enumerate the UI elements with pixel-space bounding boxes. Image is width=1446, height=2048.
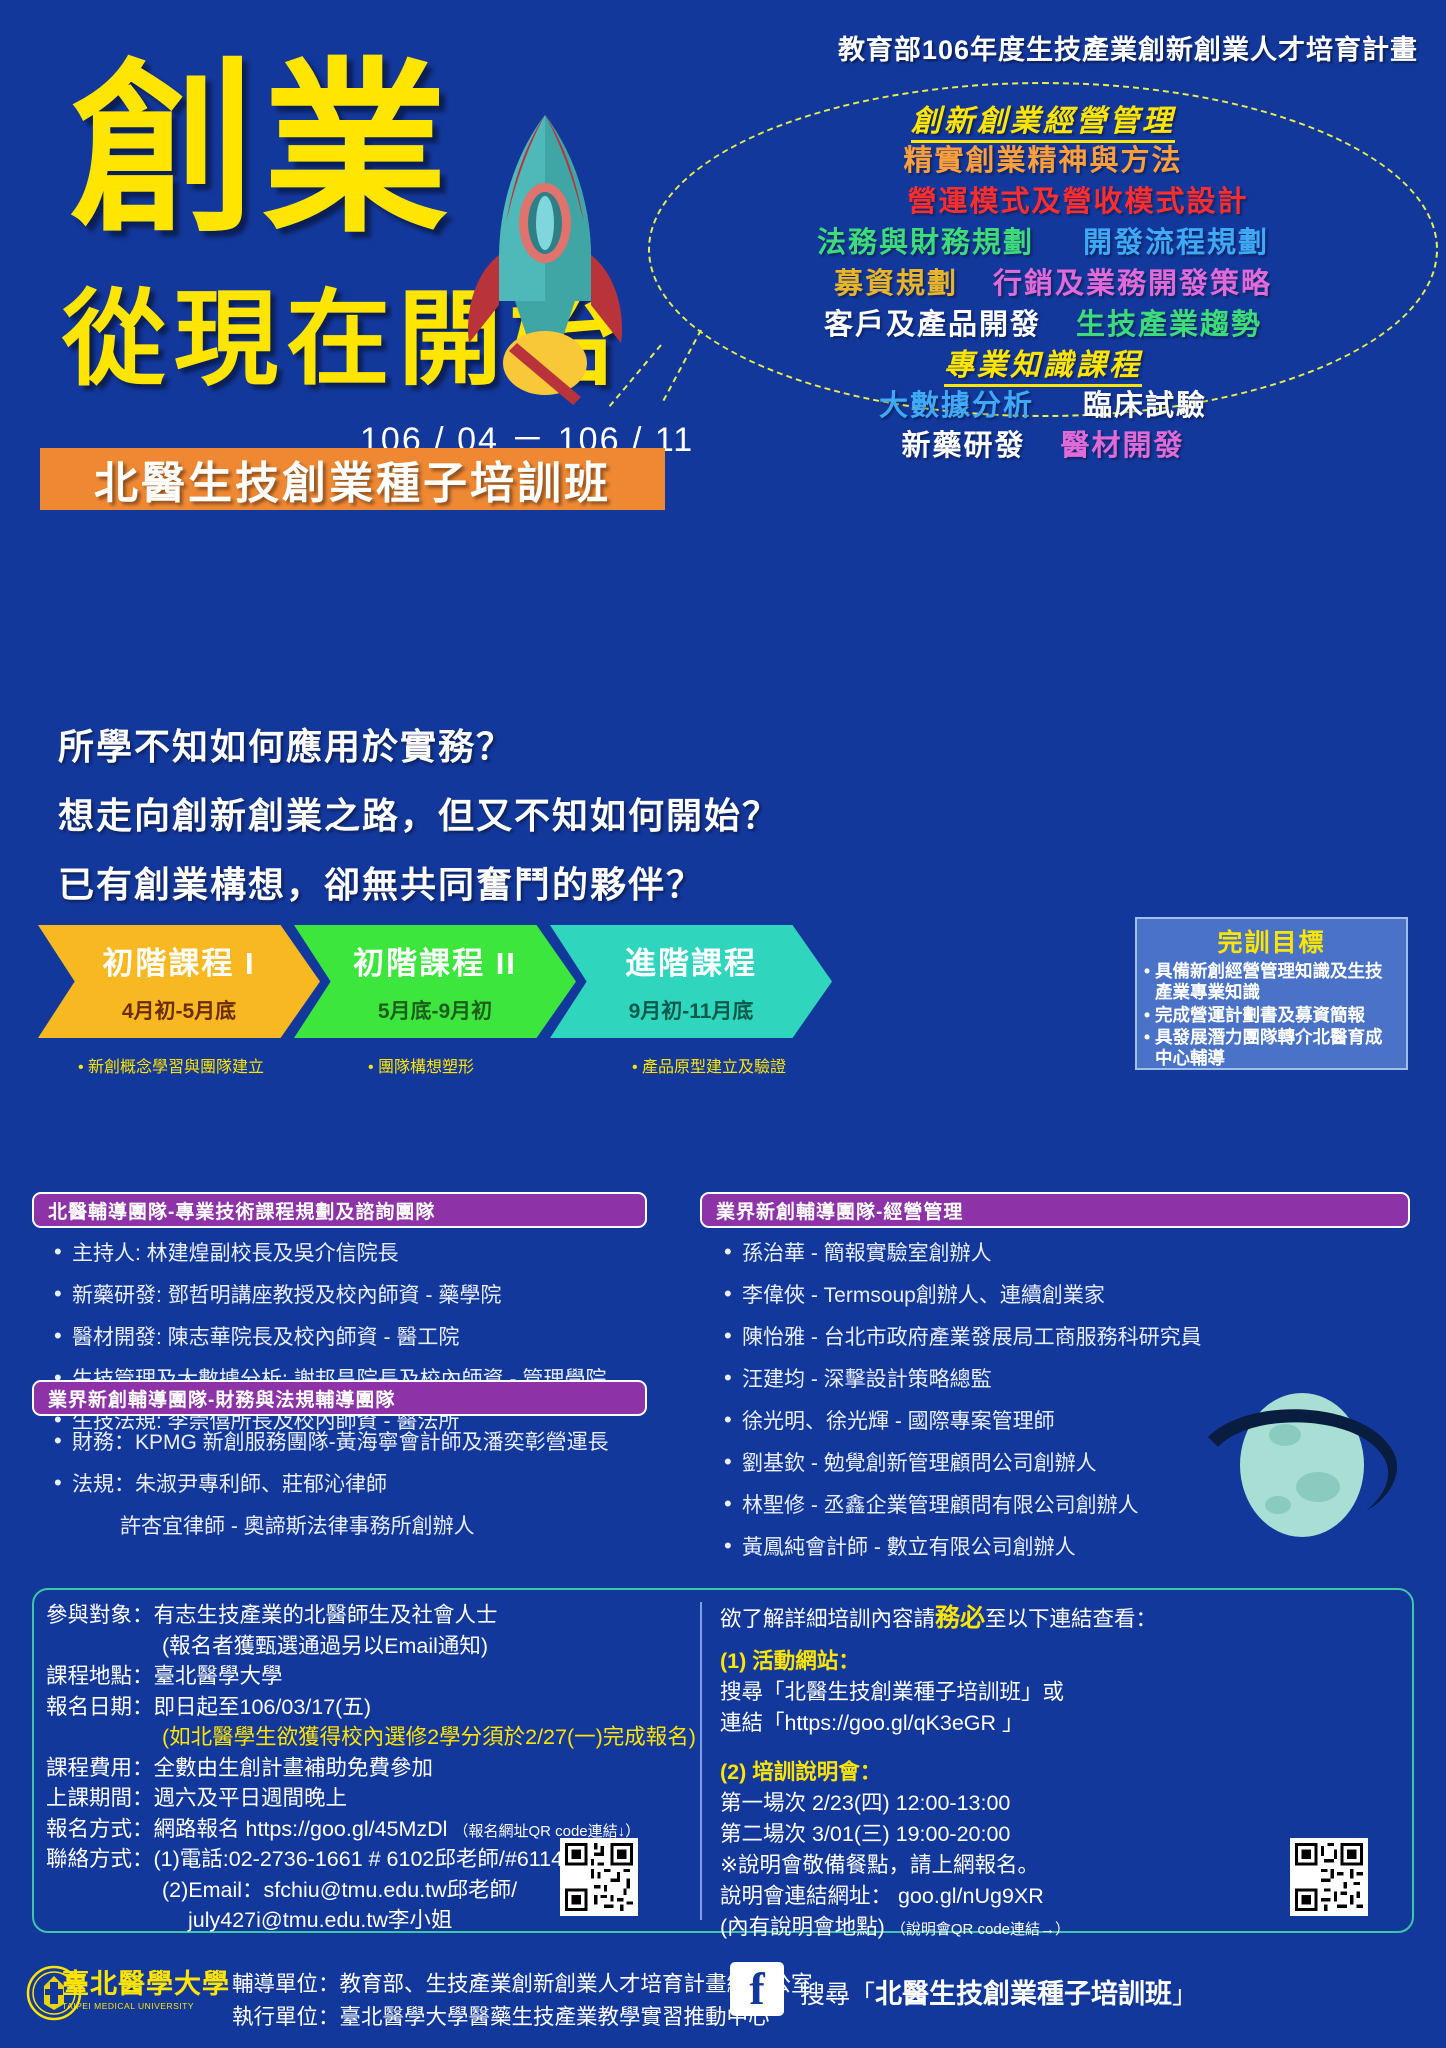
topic-item: 新藥研發 (902, 430, 1026, 462)
team-member: 新藥研發: 鄧哲明講座教授及校內師資 - 藥學院 (50, 1285, 606, 1306)
topic-item: 募資規劃 (834, 268, 958, 300)
info-briefing-title: (2) 培訓說明會： (720, 1757, 1250, 1788)
topic-item: 營運模式及營收模式設計 (907, 186, 1248, 218)
info-line: 報名日期：即日起至106/03/17(五) (46, 1692, 686, 1723)
question-line: 想走向創新創業之路，但又不知如何開始？ (58, 787, 780, 839)
team-member-continued: 許杏宜律師 - 奧諦斯法律事務所創辦人 (50, 1516, 609, 1537)
course-stages: 初階課程 I 4月初-5月底 新創概念學習與團隊建立 初階課程 II 5月底-9… (38, 925, 1408, 1085)
topic-item: 醫材開發 (1060, 430, 1184, 462)
info-line: 參與對象：有志生技產業的北醫師生及社會人士 (46, 1600, 686, 1631)
facebook-icon[interactable]: f (730, 1962, 784, 2016)
tmu-logo-text-block: 臺北醫學大學 TAIPEI MEDICAL UNIVERSITY (62, 1962, 212, 2011)
team-header-industry-finance-legal: 業界新創輔導團隊-財務與法規輔導團隊 (32, 1380, 647, 1416)
info-label: 報名方式： (46, 1817, 154, 1841)
info-line: 課程費用：全數由生創計畫補助免費參加 (46, 1753, 686, 1784)
team-header-label: 北醫輔導團隊-專業技術課程規劃及諮詢團隊 (48, 1197, 435, 1224)
fb-prefix: 搜尋「 (800, 1981, 875, 2009)
team-member: 徐光明、徐光輝 - 國際專案管理師 (720, 1411, 1202, 1432)
stage-chevron-2: 初階課程 II 5月底-9月初 (294, 925, 576, 1038)
registration-qr-code[interactable] (560, 1838, 638, 1916)
info-line: (如北醫學生欲獲得校內選修2學分須於2/27(一)完成報名) (46, 1722, 686, 1753)
info-value: (2)Email：sfchiu@tmu.edu.tw邱老師/ (162, 1878, 517, 1902)
stage-chevron-3: 進階課程 9月初-11月底 (550, 925, 832, 1038)
info-value: 週六及平日週間晚上 (154, 1786, 348, 1810)
team-member: 汪建均 - 深擊設計策略總監 (720, 1369, 1202, 1390)
info-value: july427i@tmu.edu.tw李小姐 (188, 1908, 452, 1932)
info-label: 聯絡方式： (46, 1847, 154, 1871)
team-header-industry-management: 業界新創輔導團隊-經營管理 (700, 1192, 1410, 1228)
qr-code-image (1295, 1843, 1363, 1911)
info-label: 課程地點： (46, 1664, 154, 1688)
goal-item: 具備新創經營管理知識及生技產業專業知識 (1144, 961, 1399, 1004)
goal-item: 具發展潛力團隊轉介北醫育成中心輔導 (1144, 1027, 1399, 1070)
briefing-qr-note: （說明會QR code連結→） (891, 1921, 1070, 1938)
planet-icon (1190, 1375, 1410, 1555)
question-line: 所學不知如何應用於實務？ (58, 718, 780, 770)
stage-note: 團隊構想塑形 (368, 1053, 474, 1077)
stage-name: 初階課程 I (102, 938, 255, 983)
stage-date: 5月底-9月初 (378, 995, 492, 1025)
team-member: 主持人: 林建煌副校長及吳介信院長 (50, 1243, 606, 1264)
question-line: 已有創業構想，卻無共同奮鬥的夥伴？ (58, 856, 780, 908)
info-value: (1)電話:02-2736-1661 # 6102邱老師/#6114李小姐 (154, 1847, 628, 1871)
info-intro-c: 至以下連結查看： (985, 1607, 1157, 1631)
topics-container: 創新創業經營管理 精實創業精神與方法 營運模式及營收模式設計 法務與財務規劃 開… (648, 82, 1438, 417)
goal-item: 完成營運計劃書及募資簡報 (1144, 1005, 1399, 1026)
topic-item: 生技產業趨勢 (1076, 309, 1262, 341)
topic-item: 法務與財務規劃 (817, 227, 1034, 259)
info-line: (報名者獲甄選通過另以Email通知) (46, 1631, 686, 1662)
ministry-program-line: 教育部106年度生技產業創新創業人才培育計畫 (838, 28, 1418, 67)
info-label: 參與對象： (46, 1603, 154, 1627)
team-member: 李偉俠 - Termsoup創辦人、連續創業家 (720, 1285, 1202, 1306)
goal-box-title: 完訓目標 (1144, 923, 1399, 959)
university-name-en: TAIPEI MEDICAL UNIVERSITY (62, 2001, 212, 2011)
info-intro-emphasis: 務必 (935, 1604, 985, 1632)
info-value: (報名者獲甄選通過另以Email通知) (162, 1634, 488, 1658)
team-member: 黃鳳純會計師 - 數立有限公司創辦人 (720, 1537, 1202, 1558)
stage-name: 初階課程 II (353, 938, 517, 983)
info-value: 有志生技產業的北醫師生及社會人士 (154, 1603, 498, 1627)
info-website-title: (1) 活動網站： (720, 1646, 1250, 1677)
qr-code-image (565, 1843, 633, 1911)
team-member: 醫材開發: 陳志華院長及校內師資 - 醫工院 (50, 1327, 606, 1348)
info-intro-a: 欲了解詳細培訓內容請 (720, 1607, 935, 1631)
completion-goal-box: 完訓目標 具備新創經營管理知識及生技產業專業知識 完成營運計劃書及募資簡報 具發… (1135, 917, 1408, 1070)
info-value: 臺北醫學大學 (154, 1664, 283, 1688)
info-briefing-session-2: 第二場次 3/01(三) 19:00-20:00 (720, 1819, 1250, 1850)
page-title: 創業 (70, 58, 454, 244)
team-header-label: 業界新創輔導團隊-財務與法規輔導團隊 (48, 1385, 395, 1412)
info-value: 即日起至106/03/17(五) (154, 1695, 371, 1719)
topic-item: 大數據分析 (879, 390, 1034, 422)
info-briefing-note: ※說明會敬備餐點，請上網報名。 (720, 1850, 1250, 1881)
stage-note: 產品原型建立及驗證 (632, 1053, 786, 1077)
team-member: 財務：KPMG 新創服務團隊-黃海寧會計師及潘奕彰營運長 (50, 1432, 609, 1453)
info-briefing-session-1: 第一場次 2/23(四) 12:00-13:00 (720, 1788, 1250, 1819)
topic-item: 行銷及業務開發策略 (993, 268, 1272, 300)
team-member: 劉基欽 - 勉覺創新管理顧問公司創辦人 (720, 1453, 1202, 1474)
footer-organizations: 輔導單位：教育部、生技產業創新創業人才培育計畫總辦公室 執行單位：臺北醫學大學醫… (232, 1968, 813, 2035)
course-name-text: 北醫生技創業種子培訓班 (94, 447, 611, 511)
team-member: 林聖修 - 丞鑫企業管理顧問有限公司創辦人 (720, 1495, 1202, 1516)
rocket-icon (455, 105, 635, 405)
stage-date: 4月初-5月底 (122, 995, 236, 1025)
stage-date: 9月初-11月底 (629, 995, 754, 1025)
team-member: 孫治華 - 簡報實驗室創辦人 (720, 1243, 1202, 1264)
registration-url[interactable]: 網路報名 https://goo.gl/45MzDl (154, 1817, 448, 1841)
info-right-column: 欲了解詳細培訓內容請務必至以下連結查看： (1) 活動網站： 搜尋「北醫生技創業… (720, 1600, 1250, 1943)
info-briefing-link[interactable]: 說明會連結網址： goo.gl/nUg9XR (720, 1881, 1250, 1912)
topic-item: 精實創業精神與方法 (903, 145, 1182, 177)
topic-item: 開發流程規劃 (1083, 227, 1269, 259)
fb-suffix: 」 (1172, 1981, 1197, 2009)
team-member: 法規：朱淑尹專利師、莊郁沁律師 (50, 1474, 609, 1495)
team-list-industry-management: 孫治華 - 簡報實驗室創辦人 李偉俠 - Termsoup創辦人、連續創業家 陳… (720, 1243, 1202, 1579)
info-website-link[interactable]: 連結「https://goo.gl/qK3eGR 」 (720, 1708, 1250, 1739)
info-line: 上課期間：週六及平日週間晚上 (46, 1783, 686, 1814)
team-list-tmu-technical: 主持人: 林建煌副校長及吳介信院長 新藥研發: 鄧哲明講座教授及校內師資 - 藥… (50, 1243, 606, 1453)
briefing-qr-code[interactable] (1290, 1838, 1368, 1916)
questions-block: 所學不知如何應用於實務？ 想走向創新創業之路，但又不知如何開始？ 已有創業構想，… (58, 718, 780, 925)
team-member: 陳怡雅 - 台北市政府產業發展局工商服務科研究員 (720, 1327, 1202, 1348)
info-briefing-location-note: (內有說明會地點) （說明會QR code連結→） (720, 1912, 1250, 1943)
info-panel-divider (700, 1602, 702, 1920)
team-header-tmu-technical: 北醫輔導團隊-專業技術課程規劃及諮詢團隊 (32, 1192, 647, 1228)
fb-page-name: 北醫生技創業種子培訓班 (875, 1979, 1172, 2009)
info-website-search: 搜尋「北醫生技創業種子培訓班」或 (720, 1677, 1250, 1708)
topic-item: 客戶及產品開發 (824, 309, 1041, 341)
facebook-glyph: f (749, 1966, 764, 2012)
footer-line-executor: 執行單位：臺北醫學大學醫藥生技產業教學實習推動中心 (232, 2001, 813, 2034)
info-briefing-location-text: (內有說明會地點) (720, 1915, 885, 1939)
facebook-search-text: 搜尋「北醫生技創業種子培訓班」 (800, 1972, 1197, 2011)
info-label: 課程費用： (46, 1756, 154, 1780)
footer-line-advisor: 輔導單位：教育部、生技產業創新創業人才培育計畫總辦公室 (232, 1968, 813, 2001)
topic-item: 臨床試驗 (1083, 390, 1207, 422)
info-value-highlight: (如北醫學生欲獲得校內選修2學分須於2/27(一)完成報名) (162, 1725, 696, 1749)
info-label: 報名日期： (46, 1695, 154, 1719)
info-value: 全數由生創計畫補助免費參加 (154, 1756, 434, 1780)
stage-name: 進階課程 (625, 938, 757, 983)
team-header-label: 業界新創輔導團隊-經營管理 (716, 1197, 963, 1224)
info-label: 上課期間： (46, 1786, 154, 1810)
info-line: 課程地點：臺北醫學大學 (46, 1661, 686, 1692)
stage-note: 新創概念學習與團隊建立 (78, 1053, 264, 1077)
university-name-cn: 臺北醫學大學 (62, 1962, 212, 2001)
stage-chevron-1: 初階課程 I 4月初-5月底 (38, 925, 320, 1038)
poster-root: 教育部106年度生技產業創新創業人才培育計畫 創業 從現在開始 106 / 04… (0, 0, 1446, 2048)
team-list-industry-finance-legal: 財務：KPMG 新創服務團隊-黃海寧會計師及潘奕彰營運長 法規：朱淑尹專利師、莊… (50, 1432, 609, 1558)
info-intro-line: 欲了解詳細培訓內容請務必至以下連結查看： (720, 1600, 1250, 1636)
course-name-banner: 北醫生技創業種子培訓班 (40, 448, 665, 510)
